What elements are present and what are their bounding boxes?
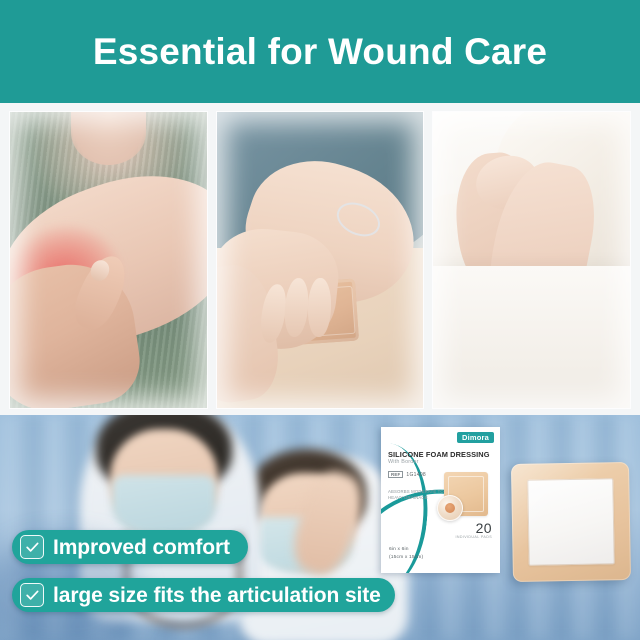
feature-pill-large-size: large size fits the articulation site: [12, 578, 395, 612]
wound-care-infographic: Essential for Wound Care: [0, 0, 640, 640]
product-size: 6in x 6in (15cm x 15cm): [389, 546, 423, 561]
product-size-metric: (15cm x 15cm): [389, 554, 423, 561]
product-title: SILICONE FOAM DRESSING: [388, 451, 494, 459]
foam-dressing-pad: [527, 478, 614, 565]
product-count-label: INDIVIDUAL PADS: [455, 536, 492, 540]
check-icon: [20, 583, 44, 607]
photo-feet-on-bed: [433, 112, 630, 408]
photo-strip: [0, 103, 640, 415]
product-box: Dimora SILICONE FOAM DRESSING With Borde…: [381, 427, 500, 573]
page-title: Essential for Wound Care: [83, 33, 557, 70]
brand-logo: Dimora: [457, 432, 494, 443]
magnifier-icon: [437, 495, 463, 521]
product-ref-number: 1G1408: [406, 472, 426, 478]
foam-dressing-product: [511, 462, 631, 582]
product-subtitle: With Border: [388, 460, 419, 465]
photo-arm-inflammation: [10, 112, 207, 408]
feature-label: Improved comfort: [53, 537, 230, 558]
bottom-scene-doctor-mask: [112, 475, 216, 537]
feature-label: large size fits the articulation site: [53, 585, 381, 606]
magnifier-detail: [445, 503, 455, 513]
product-ref-label: REF: [388, 471, 403, 478]
photo-applying-dressing: [217, 112, 423, 408]
product-count: 20: [476, 521, 492, 535]
header-banner: Essential for Wound Care: [0, 0, 640, 103]
product-size-imperial: 6in x 6in: [389, 546, 423, 553]
check-icon: [20, 535, 44, 559]
product-ref: REF 1G1408: [388, 471, 426, 478]
feature-pill-improved-comfort: Improved comfort: [12, 530, 248, 564]
photo-feet-bedsheet: [433, 266, 630, 408]
